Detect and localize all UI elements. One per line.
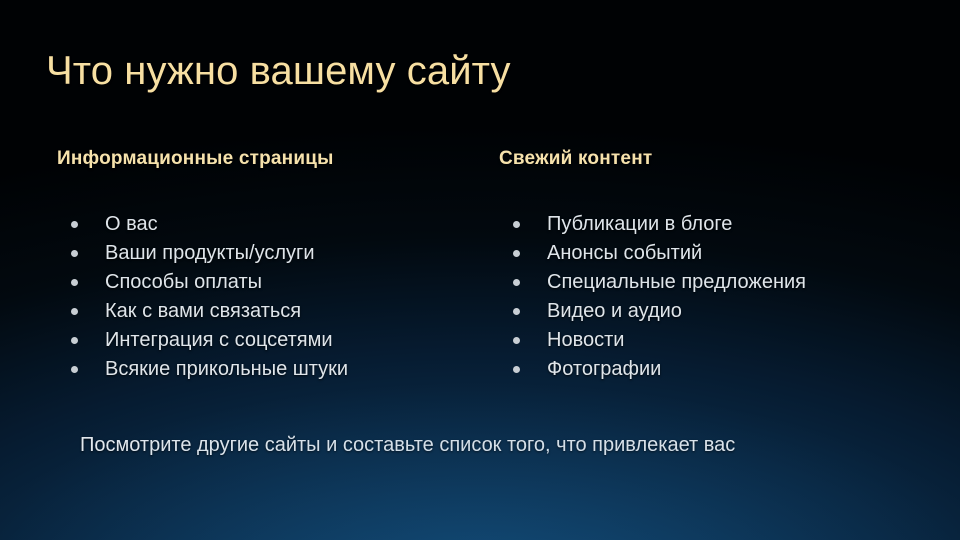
list-item: О вас <box>57 210 348 239</box>
list-item: Анонсы событий <box>499 239 806 268</box>
list-item-label: Способы оплаты <box>105 271 262 293</box>
list-item: Новости <box>499 326 806 355</box>
bullet-dot-icon <box>513 250 520 257</box>
column-fresh-content: Свежий контент Публикации в блоге Анонсы… <box>499 148 929 170</box>
list-item: Видео и аудио <box>499 297 806 326</box>
list-item-label: Фотографии <box>547 358 661 380</box>
column-informational-pages: Информационные страницы О вас Ваши проду… <box>57 148 477 170</box>
list-item-label: Как с вами связаться <box>105 300 301 322</box>
list-item-label: Видео и аудио <box>547 300 682 322</box>
bullet-dot-icon <box>513 221 520 228</box>
list-item-label: Специальные предложения <box>547 271 806 293</box>
bullet-dot-icon <box>71 366 78 373</box>
list-item-label: Публикации в блоге <box>547 213 732 235</box>
list-item: Фотографии <box>499 355 806 384</box>
list-item: Всякие прикольные штуки <box>57 355 348 384</box>
list-item-label: Ваши продукты/услуги <box>105 242 315 264</box>
bullet-dot-icon <box>513 279 520 286</box>
slide-caption: Посмотрите другие сайты и составьте спис… <box>80 434 735 457</box>
page-title: Что нужно вашему сайту <box>46 49 511 94</box>
bullet-dot-icon <box>71 308 78 315</box>
list-item: Ваши продукты/услуги <box>57 239 348 268</box>
bullet-dot-icon <box>71 279 78 286</box>
list-item-label: Всякие прикольные штуки <box>105 358 348 380</box>
bullet-list-left: О вас Ваши продукты/услуги Способы оплат… <box>57 210 348 384</box>
bullet-dot-icon <box>513 366 520 373</box>
bullet-dot-icon <box>71 337 78 344</box>
bullet-dot-icon <box>71 250 78 257</box>
column-heading: Свежий контент <box>499 148 929 170</box>
list-item: Специальные предложения <box>499 268 806 297</box>
list-item-label: О вас <box>105 213 158 235</box>
bullet-dot-icon <box>513 308 520 315</box>
column-heading: Информационные страницы <box>57 148 477 170</box>
bullet-list-right: Публикации в блоге Анонсы событий Специа… <box>499 210 806 384</box>
list-item-label: Новости <box>547 329 624 351</box>
list-item: Способы оплаты <box>57 268 348 297</box>
list-item: Интеграция с соцсетями <box>57 326 348 355</box>
bullet-dot-icon <box>513 337 520 344</box>
list-item-label: Интеграция с соцсетями <box>105 329 333 351</box>
list-item: Публикации в блоге <box>499 210 806 239</box>
bullet-dot-icon <box>71 221 78 228</box>
list-item: Как с вами связаться <box>57 297 348 326</box>
presentation-slide: Что нужно вашему сайту Информационные ст… <box>0 0 960 540</box>
list-item-label: Анонсы событий <box>547 242 702 264</box>
